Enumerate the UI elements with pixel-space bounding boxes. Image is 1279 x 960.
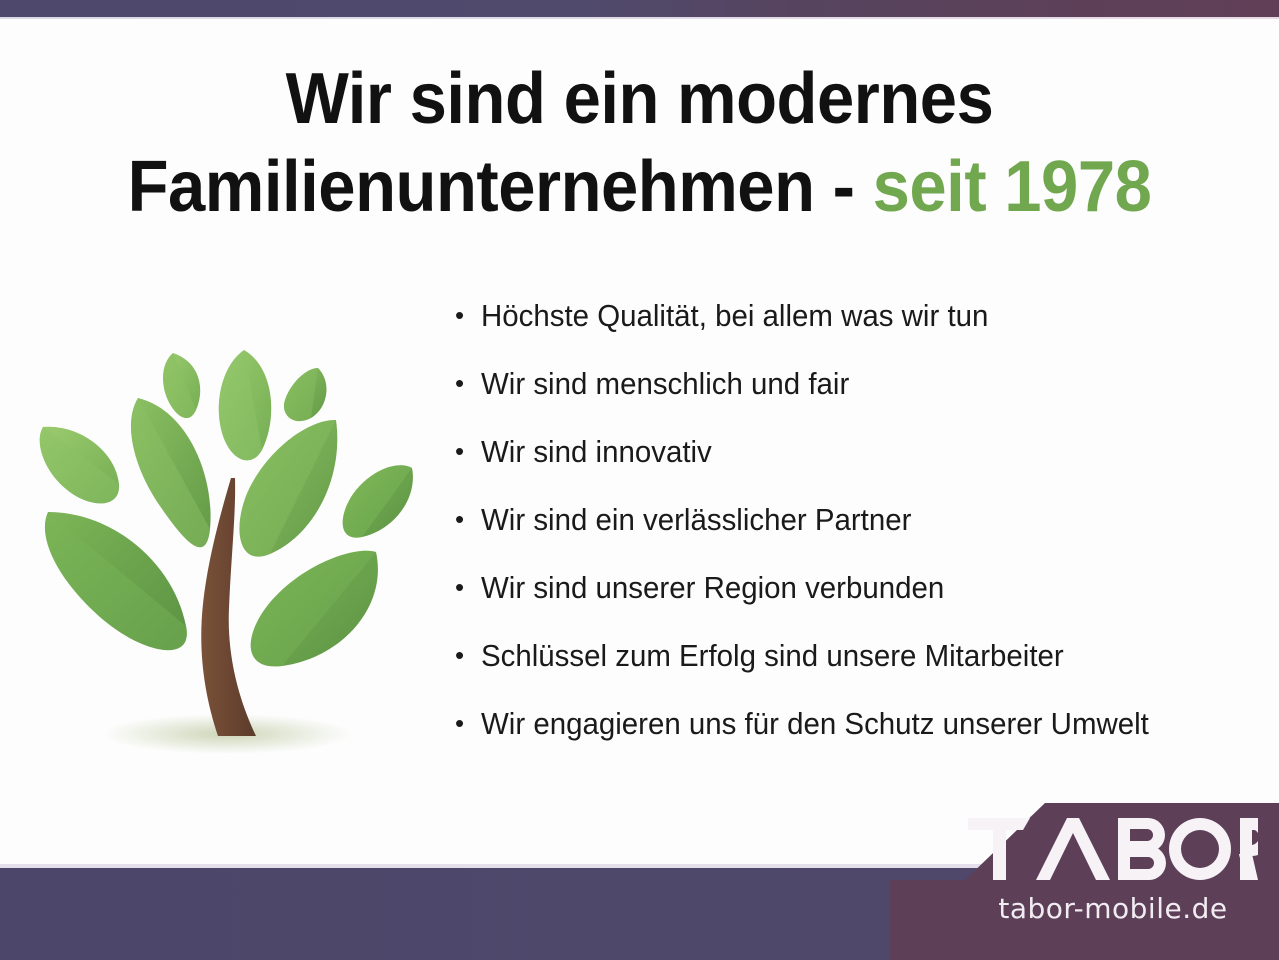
- headline-line-1: Wir sind ein modernes: [45, 55, 1234, 143]
- list-item-label: Wir sind menschlich und fair: [481, 368, 849, 399]
- list-item: • Wir sind menschlich und fair: [455, 368, 1265, 436]
- leaf-top-center: [219, 350, 271, 460]
- leaf-far-left: [40, 427, 119, 504]
- headline-line-2-black: Familienunternehmen -: [128, 147, 873, 227]
- bullet-marker-icon: •: [455, 438, 481, 464]
- logo-url: tabor-mobile.de: [968, 893, 1258, 925]
- headline-line-2-accent: seit 1978: [873, 147, 1152, 227]
- bullet-marker-icon: •: [455, 506, 481, 532]
- list-item: • Wir sind innovativ: [455, 436, 1265, 504]
- bullet-marker-icon: •: [455, 642, 481, 668]
- list-item-label: Wir sind ein verlässlicher Partner: [481, 504, 911, 535]
- list-item: • Höchste Qualität, bei allem was wir tu…: [455, 300, 1265, 368]
- leaf-top-left: [163, 353, 200, 418]
- leaf-upper-left: [131, 398, 211, 547]
- tree-illustration: [22, 332, 440, 760]
- list-item: • Wir sind ein verlässlicher Partner: [455, 504, 1265, 572]
- headline-line-2: Familienunternehmen - seit 1978: [45, 143, 1234, 231]
- leaf-lower-left: [45, 512, 187, 650]
- page-title: Wir sind ein modernes Familienunternehme…: [45, 55, 1234, 231]
- bullet-list: • Höchste Qualität, bei allem was wir tu…: [455, 300, 1265, 776]
- list-item-label: Schlüssel zum Erfolg sind unsere Mitarbe…: [481, 640, 1064, 671]
- list-item: • Schlüssel zum Erfolg sind unsere Mitar…: [455, 640, 1265, 708]
- list-item: • Wir sind unserer Region verbunden: [455, 572, 1265, 640]
- slide-canvas: Wir sind ein modernes Familienunternehme…: [0, 0, 1279, 960]
- top-accent-bar: [0, 0, 1279, 17]
- bullet-marker-icon: •: [455, 710, 481, 736]
- list-item-label: Wir sind innovativ: [481, 436, 712, 467]
- list-item-label: Höchste Qualität, bei allem was wir tun: [481, 300, 988, 331]
- list-item: • Wir engagieren uns für den Schutz unse…: [455, 708, 1265, 776]
- leaf-top-right: [284, 368, 327, 421]
- bullet-marker-icon: •: [455, 574, 481, 600]
- list-item-label: Wir engagieren uns für den Schutz unsere…: [481, 708, 1149, 739]
- list-item-label: Wir sind unserer Region verbunden: [481, 572, 944, 603]
- leaf-lower-right: [251, 551, 378, 667]
- top-accent-hairline: [0, 17, 1279, 19]
- leaf-right: [343, 465, 413, 537]
- bullet-marker-icon: •: [455, 302, 481, 328]
- bullet-marker-icon: •: [455, 370, 481, 396]
- tabor-logo: [968, 818, 1258, 880]
